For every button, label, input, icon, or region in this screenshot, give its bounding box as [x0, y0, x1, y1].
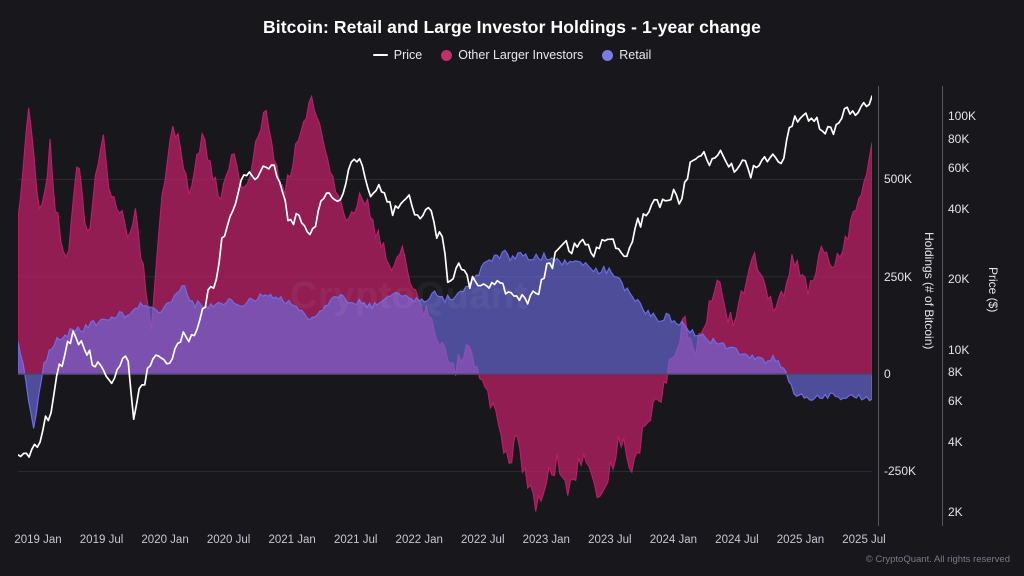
- legend-label-other-larger-investors: Other Larger Investors: [458, 48, 583, 62]
- holdings-tick-label: 500K: [884, 172, 912, 186]
- price-tick-label: 2K: [948, 505, 963, 519]
- x-tick-label: 2021 Jan: [268, 534, 315, 546]
- holdings-axis-title: Holdings (# of Bitcoin): [922, 232, 936, 349]
- x-tick-label: 2023 Jul: [588, 534, 631, 546]
- price-axis-line: [942, 86, 943, 526]
- price-axis-title: Price ($): [986, 267, 1000, 312]
- legend-item-other-larger-investors[interactable]: Other Larger Investors: [441, 48, 583, 62]
- price-tick-label: 100K: [948, 109, 976, 123]
- price-tick-label: 40K: [948, 202, 969, 216]
- copyright-notice: © CryptoQuant. All rights reserved: [866, 554, 1010, 565]
- x-tick-label: 2022 Jan: [396, 534, 443, 546]
- legend-label-retail: Retail: [619, 48, 651, 62]
- holdings-tick-label: 250K: [884, 270, 912, 284]
- plot-area[interactable]: [18, 86, 872, 526]
- retail-swatch-icon: [602, 50, 613, 61]
- x-tick-label: 2025 Jul: [842, 534, 885, 546]
- x-tick-label: 2019 Jan: [14, 534, 61, 546]
- legend-item-retail[interactable]: Retail: [602, 48, 651, 62]
- x-tick-label: 2020 Jul: [207, 534, 250, 546]
- price-tick-label: 8K: [948, 365, 963, 379]
- legend-label-price: Price: [394, 48, 422, 62]
- price-tick-label: 4K: [948, 435, 963, 449]
- x-tick-label: 2025 Jan: [777, 534, 824, 546]
- legend-item-price[interactable]: Price: [373, 48, 422, 62]
- page-title: Bitcoin: Retail and Large Investor Holdi…: [0, 17, 1024, 38]
- x-tick-label: 2023 Jan: [523, 534, 570, 546]
- chart-root: Bitcoin: Retail and Large Investor Holdi…: [0, 0, 1024, 576]
- x-tick-label: 2020 Jan: [141, 534, 188, 546]
- x-tick-label: 2024 Jul: [715, 534, 758, 546]
- price-tick-label: 60K: [948, 161, 969, 175]
- x-tick-label: 2021 Jul: [334, 534, 377, 546]
- x-tick-label: 2019 Jul: [80, 534, 123, 546]
- price-tick-label: 80K: [948, 132, 969, 146]
- x-tick-label: 2024 Jan: [650, 534, 697, 546]
- holdings-tick-label: -250K: [884, 464, 916, 478]
- price-tick-label: 20K: [948, 272, 969, 286]
- holdings-axis-line: [878, 86, 879, 526]
- large-investors-swatch-icon: [441, 50, 452, 61]
- chart-legend: Price Other Larger Investors Retail: [0, 48, 1024, 62]
- chart-canvas: [18, 86, 872, 526]
- x-axis-ticks: 2019 Jan2019 Jul2020 Jan2020 Jul2021 Jan…: [0, 534, 1024, 550]
- price-tick-label: 6K: [948, 394, 963, 408]
- price-line-swatch-icon: [373, 54, 388, 56]
- holdings-tick-label: 0: [884, 367, 891, 381]
- price-tick-label: 10K: [948, 343, 969, 357]
- x-tick-label: 2022 Jul: [461, 534, 504, 546]
